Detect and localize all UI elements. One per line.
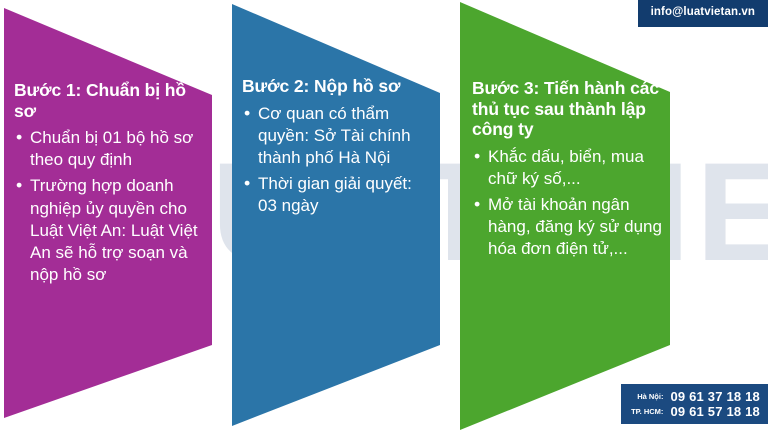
step-panel-2: Bước 2: Nộp hồ sơ Cơ quan có thẩm quyền:… <box>228 0 448 432</box>
list-item: Thời gian giải quyết: 03 ngày <box>242 173 430 217</box>
step-2-bullet-list: Cơ quan có thẩm quyền: Sở Tài chính thàn… <box>242 103 430 217</box>
step-3-content: Bước 3: Tiến hành các thủ tục sau thành … <box>472 78 662 264</box>
step-1-bullet-list: Chuẩn bị 01 bộ hồ sơ theo quy định Trườn… <box>14 127 204 286</box>
phone-contact-table: Hà Nội: 09 61 37 18 18 TP. HCM: 09 61 57… <box>631 389 760 419</box>
table-row: Hà Nội: 09 61 37 18 18 <box>631 389 760 404</box>
infographic-canvas: LUAT VIET AN Bước 1: Chuẩn bị hồ sơ Chuẩ… <box>0 0 768 432</box>
step-3-title: Bước 3: Tiến hành các thủ tục sau thành … <box>472 78 662 140</box>
step-panel-3: Bước 3: Tiến hành các thủ tục sau thành … <box>455 0 680 432</box>
list-item: Trường hợp doanh nghiệp ủy quyền cho Luậ… <box>14 175 204 285</box>
email-badge-text: info@luatvietan.vn <box>651 6 755 18</box>
phone-number-hcm[interactable]: 09 61 57 18 18 <box>670 404 760 419</box>
phone-label-hcm: TP. HCM: <box>631 404 670 419</box>
list-item: Khắc dấu, biển, mua chữ ký số,... <box>472 146 662 190</box>
step-2-content: Bước 2: Nộp hồ sơ Cơ quan có thẩm quyền:… <box>242 76 430 221</box>
email-badge[interactable]: info@luatvietan.vn <box>638 0 768 27</box>
list-item: Chuẩn bị 01 bộ hồ sơ theo quy định <box>14 127 204 171</box>
step-1-title: Bước 1: Chuẩn bị hồ sơ <box>14 80 204 121</box>
list-item: Mở tài khoản ngân hàng, đăng ký sử dụng … <box>472 194 662 260</box>
phone-contact-badge[interactable]: Hà Nội: 09 61 37 18 18 TP. HCM: 09 61 57… <box>621 384 768 424</box>
list-item: Cơ quan có thẩm quyền: Sở Tài chính thàn… <box>242 103 430 169</box>
step-panel-1: Bước 1: Chuẩn bị hồ sơ Chuẩn bị 01 bộ hồ… <box>0 0 220 432</box>
table-row: TP. HCM: 09 61 57 18 18 <box>631 404 760 419</box>
phone-number-hanoi[interactable]: 09 61 37 18 18 <box>670 389 760 404</box>
step-3-bullet-list: Khắc dấu, biển, mua chữ ký số,... Mở tài… <box>472 146 662 260</box>
step-1-content: Bước 1: Chuẩn bị hồ sơ Chuẩn bị 01 bộ hồ… <box>14 80 204 290</box>
step-2-title: Bước 2: Nộp hồ sơ <box>242 76 430 97</box>
phone-label-hanoi: Hà Nội: <box>631 389 670 404</box>
